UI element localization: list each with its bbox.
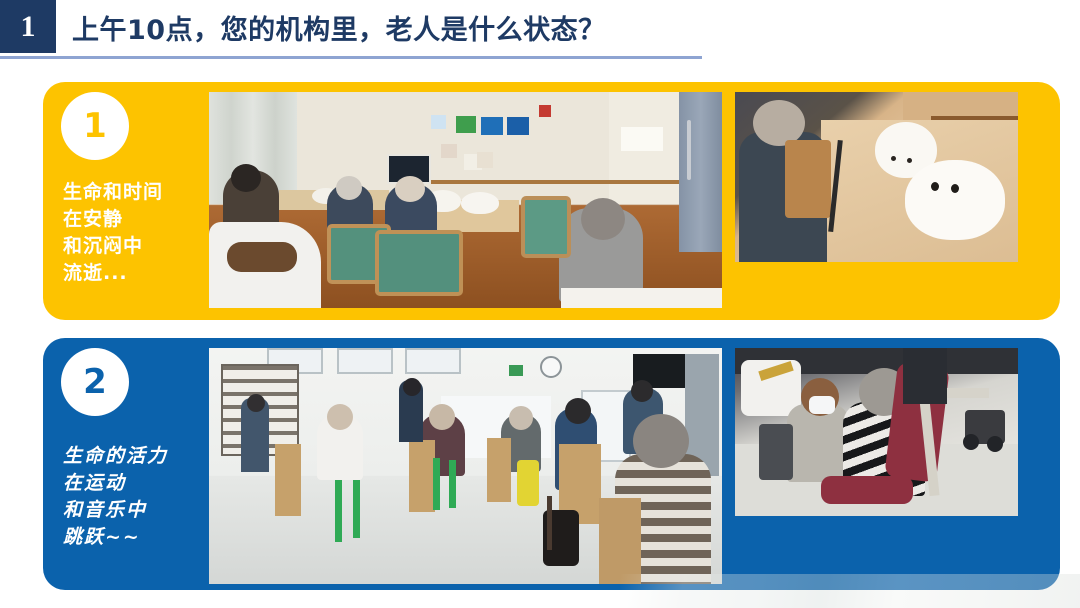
wheel (987, 436, 1003, 452)
person-head (509, 406, 533, 430)
person-head (247, 394, 265, 412)
chair (275, 444, 301, 516)
person-head (581, 198, 625, 240)
resistance-band (353, 480, 360, 538)
group-exercise-hall-photo (209, 348, 722, 584)
person-head (327, 404, 353, 430)
machine-panel (759, 424, 793, 480)
photo-2-scene (735, 92, 1018, 262)
panel-2-caption: 生命的活力 在运动 和音乐中 跳跃~~ (63, 443, 168, 551)
person-head (231, 164, 261, 192)
training-machine-photo (735, 348, 1018, 516)
plush-seal (905, 160, 1005, 240)
notice-board (621, 127, 663, 151)
plush-seal-eye (931, 182, 939, 191)
page-title: 上午10点，您的机构里，老人是什么状态？ (72, 8, 606, 47)
wall-clock (540, 356, 562, 378)
header-badge-number: 1 (21, 12, 36, 42)
white-table (561, 288, 722, 308)
door (679, 92, 722, 252)
window (337, 348, 393, 374)
armchair (375, 230, 463, 296)
plush-seal-eye (907, 158, 912, 163)
artwork-card (431, 115, 446, 129)
photo-1-scene (209, 92, 722, 308)
armchair (521, 196, 571, 258)
chair (599, 498, 641, 584)
resistance-band (433, 458, 440, 510)
artwork-card (441, 144, 457, 158)
panel-2-badge-number: 2 (83, 365, 107, 399)
resistance-band (517, 460, 539, 506)
door-handle (687, 120, 691, 180)
header-underline (0, 56, 702, 59)
chair (487, 438, 511, 502)
page-header: 1 上午10点，您的机构里，老人是什么状态？ (0, 0, 1080, 60)
photo-4-scene (735, 348, 1018, 516)
chair (409, 440, 435, 512)
content-panel-1: 1 生命和时间 在安静 和沉闷中 流逝... (43, 82, 1060, 320)
bed-rail-gap (227, 242, 297, 272)
wheel (963, 434, 979, 450)
header-number-badge: 1 (0, 0, 56, 53)
panel-2-number-badge: 2 (61, 348, 129, 416)
wooden-chair (785, 140, 831, 218)
person-head (403, 378, 421, 396)
machine-frame (941, 388, 989, 398)
plush-seal (461, 192, 499, 214)
person-head (395, 176, 425, 202)
face-mask (809, 396, 835, 414)
panel-1-number-badge: 1 (61, 92, 129, 160)
panel-1-badge-number: 1 (83, 109, 107, 143)
photo-3-scene (209, 348, 722, 584)
resistance-band (449, 460, 456, 508)
panel-1-caption: 生命和时间 在安静 和沉闷中 流逝... (63, 179, 163, 287)
person-head (633, 414, 689, 468)
artwork-card (456, 116, 476, 133)
standing-person (903, 348, 947, 404)
resistance-band (335, 480, 342, 542)
content-panel-2: 2 生命的活力 在运动 和音乐中 跳跃~~ (43, 338, 1060, 590)
artwork-card (481, 117, 503, 135)
day-room-elders-photo (209, 92, 722, 308)
walking-cane (547, 496, 552, 550)
faded-street-scene (620, 574, 1080, 608)
machine-seat (821, 476, 913, 504)
person-head (429, 404, 455, 430)
artwork-card (507, 117, 529, 135)
person-head (565, 398, 591, 424)
person-head (336, 176, 362, 200)
handrail (414, 180, 679, 184)
exit-sign (509, 365, 523, 376)
plush-seal-eye (951, 184, 959, 193)
person-head (631, 380, 653, 402)
artwork-card (477, 152, 493, 168)
plush-seal-table-photo (735, 92, 1018, 262)
plush-seal-eye (891, 156, 896, 161)
artwork-card (539, 105, 551, 117)
window (405, 348, 461, 374)
